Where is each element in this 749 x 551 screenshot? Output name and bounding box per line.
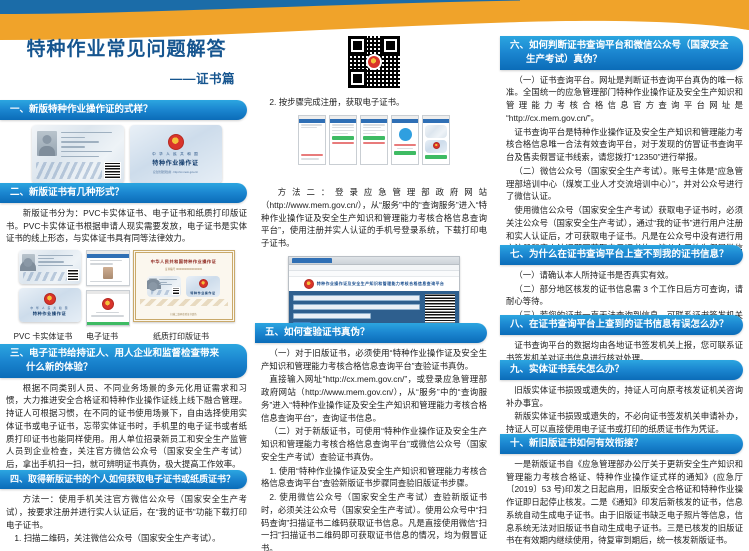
section-2-figures: 中 华 人 民 共 和 国 特种作业操作证 — [6, 250, 247, 326]
section-2-heading: 二、新版证书有几种形式？ — [0, 183, 247, 203]
title-block: 特种作业常见问题解答 ——证书篇 — [0, 40, 253, 87]
paper-cert-back-thumb: 特种作业操作证 — [186, 276, 220, 297]
page-subtitle: ——证书篇 — [0, 68, 235, 87]
poster-page: 特种作业常见问题解答 ——证书篇 一、新版特种作业操作证的式样？ — [0, 0, 749, 551]
section-3-heading-line2: 什么新的体验？ — [10, 361, 239, 375]
login-qr-code[interactable] — [425, 294, 455, 324]
card-field-lines — [61, 132, 120, 161]
card-qr-icon — [67, 269, 79, 281]
password-input[interactable] — [293, 304, 420, 310]
section-9-heading: 九、实体证书丢失怎么办？ — [500, 360, 743, 380]
section-3-heading-line1: 三、电子证书给持证人、用人企业和监督检查带来 — [10, 348, 219, 359]
section-4: 四、取得新版证书的个人如何获取电子证书或纸质证书？ 方法一：使用手机关注官方微信… — [0, 470, 253, 546]
caption-paper: 纸质打印版证书 — [126, 331, 236, 342]
section-5: 五、如何查验证书真伪？ （一）对于旧版证书，必须使用“特种作业操作证及安全生产知… — [255, 323, 493, 551]
query-platform-browser-screenshot: 特种作业操作证及安全生产知识和管理能力考核合格信息查询平台 — [288, 256, 460, 330]
section-10-heading: 十、新旧版证书如何有效衔接？ — [500, 434, 743, 454]
figure-electronic-cert — [86, 250, 128, 326]
section-6-paragraph-1: （一）证书查询平台。网址是判断证书查询平台真伪的唯一标准。全国统一的应急管理部门… — [506, 74, 743, 125]
phone-screenshot-4 — [391, 115, 419, 165]
figure-paper-cert: 中华人民共和国特种作业操作证 证书编号 000000000000000000 — [133, 250, 235, 322]
section-6-heading: 六、如何判断证书查询平台和微信公众号（国家安全 生产考试）真伪？ — [500, 36, 743, 70]
id-photo — [37, 131, 57, 156]
e-cert-screen-bottom — [86, 290, 130, 326]
site-header: 特种作业操作证及安全生产知识和管理能力考核合格信息查询平台 — [289, 277, 459, 291]
middle-step-2: 2. 按步骤完成注册，获取电子证书。 — [255, 96, 493, 170]
captcha-input[interactable] — [293, 313, 371, 319]
section-5-paragraph-1: （一）对于旧版证书，必须使用“特种作业操作证及安全生产知识和管理能力考核合格信息… — [261, 347, 487, 373]
card-back-title: 特种作业操作证 — [33, 311, 67, 317]
middle-paragraph-step2: 2. 按步骤完成注册，获取电子证书。 — [261, 96, 487, 109]
id-photo — [22, 254, 35, 271]
national-emblem-icon — [168, 134, 184, 150]
section-6-paragraph-3: （二）微信公众号（国家安全生产考试）。账号主体是“应急管理部培训中心（煤炭工业人… — [506, 165, 743, 203]
section-5-paragraph-3: （二）对于新版证书，可使用“特种作业操作证及安全生产知识和管理能力考核合格信息查… — [261, 425, 487, 463]
section-7-paragraph-2: （二）部分地区核发的证书信息需 3 个工作日后方可查询，请耐心等待。 — [506, 283, 743, 309]
browser-tab — [292, 258, 332, 263]
section-2: 二、新版证书有几种形式？ 新版证书分为：PVC卡实体证书、电子证书和纸质打印版证… — [0, 183, 253, 348]
section-8-heading: 八、在证书查询平台上查到的证书信息有误怎么办？ — [500, 315, 743, 335]
login-panel — [289, 291, 459, 327]
phone-screenshot-1 — [298, 115, 326, 165]
phone-screenshot-3 — [360, 115, 388, 165]
paper-cert-body: 特种作业操作证 — [147, 276, 220, 297]
pvc-card-back-small: 中 华 人 民 共 和 国 特种作业操作证 — [19, 288, 81, 322]
figure-pvc-card: 中 华 人 民 共 和 国 特种作业操作证 — [19, 250, 81, 322]
national-emblem-icon — [44, 293, 56, 305]
login-form — [293, 295, 420, 323]
card-back-country: 中 华 人 民 共 和 国 — [152, 152, 199, 157]
card-back-title: 特种作业操作证 — [152, 158, 198, 167]
section-2-paragraph-1: 新版证书分为：PVC卡实体证书、电子证书和纸质打印版证书。PVC卡实体证书根据申… — [6, 207, 247, 245]
site-header-title: 特种作业操作证及安全生产知识和管理能力考核合格信息查询平台 — [317, 281, 445, 287]
qr-center-emblem-icon — [366, 54, 382, 70]
pvc-card-front-image — [32, 125, 124, 183]
phone-screenshot-2 — [329, 115, 357, 165]
column-left: 特种作业常见问题解答 ——证书篇 一、新版特种作业操作证的式样？ — [0, 0, 253, 551]
page-title: 特种作业常见问题解答 — [0, 40, 253, 61]
section-1-heading: 一、新版特种作业操作证的式样？ — [0, 100, 247, 120]
wechat-official-account-qr-code[interactable] — [348, 36, 400, 88]
national-emblem-icon — [304, 279, 314, 289]
section-5-paragraph-2: 直接输入网址“http://cx.mem.gov.cn/”，或登录应急管理部政府… — [261, 373, 487, 424]
card-back-footer: 应急管理部监制 · http://cx.mem.gov.cn/ — [153, 170, 198, 174]
paper-cert-title: 中华人民共和国特种作业操作证 — [151, 259, 217, 265]
section-5-paragraph-4: 1. 使用“特种作业操作证及安全生产知识和管理能力考核合格信息查询平台”查验新版… — [261, 465, 487, 491]
section-1-figures: 中 华 人 民 共 和 国 特种作业操作证 应急管理部监制 · http://c… — [6, 125, 247, 183]
middle-paragraph-method2: 方法二：登录应急管理部政府网站（http://www.mem.gov.cn/），… — [261, 186, 487, 250]
phone-screenshot-5 — [422, 115, 450, 165]
section-10-paragraph-1: 一是新版证书自《应急管理部办公厅关于更新安全生产知识和管理能力考核合格证、特种作… — [506, 458, 743, 547]
section-1: 一、新版特种作业操作证的式样？ 中 华 人 民 共 和 国 特种作业操作证 — [0, 100, 253, 188]
section-3: 三、电子证书给持证人、用人企业和监督检查带来 什么新的体验？ 根据不同类别人员、… — [0, 344, 253, 476]
section-4-heading: 四、取得新版证书的个人如何获取电子证书或纸质证书？ — [0, 470, 247, 489]
section-4-paragraph-2: 1. 扫描二维码，关注微信公众号（国家安全生产考试）。 — [6, 532, 247, 545]
section-6: 六、如何判断证书查询平台和微信公众号（国家安全 生产考试）真伪？ （一）证书查询… — [500, 36, 749, 269]
pvc-card-back-image: 中 华 人 民 共 和 国 特种作业操作证 应急管理部监制 · http://c… — [130, 125, 222, 183]
wechat-qr-block — [255, 36, 493, 88]
column-middle: 2. 按步骤完成注册，获取电子证书。 — [255, 0, 493, 551]
section-8: 八、在证书查询平台上查到的证书信息有误怎么办？ 证书查询平台的数据均由各地证书签… — [500, 315, 749, 365]
paper-cert-border-pattern — [140, 299, 228, 306]
card-back-country: 中 华 人 民 共 和 国 — [30, 306, 68, 310]
middle-method-2: 方法二：登录应急管理部政府网站（http://www.mem.gov.cn/），… — [255, 186, 493, 335]
phone-input[interactable] — [293, 295, 420, 301]
caption-pvc: PVC 卡实体证书 — [8, 331, 78, 342]
paper-cert-footer: 扫描二维码查验证书真伪 — [136, 312, 232, 316]
card-watermark — [23, 272, 67, 281]
section-10: 十、新旧版证书如何有效衔接？ 一是新版证书自《应急管理部办公厅关于更新安全生产知… — [500, 434, 749, 548]
section-6-heading-line1: 六、如何判断证书查询平台和微信公众号（国家安全 — [510, 40, 729, 51]
phone-screenshot-strip — [261, 115, 487, 165]
e-cert-back-thumb — [425, 140, 447, 153]
section-2-figure-captions: PVC 卡实体证书 电子证书 纸质打印版证书 — [8, 331, 245, 342]
paper-certificate-image: 中华人民共和国特种作业操作证 证书编号 000000000000000000 — [133, 250, 235, 322]
e-cert-front-thumb — [425, 125, 447, 138]
paper-cert-subtitle: 证书编号 000000000000000000 — [165, 267, 202, 271]
section-6-paragraph-2: 证书查询平台是特种作业操作证及安全生产知识和管理能力考核合格信息唯一合法有效查询… — [506, 126, 743, 164]
e-cert-screen-top — [86, 250, 130, 286]
section-7-heading: 七、为什么在证书查询平台上查不到我的证书信息？ — [500, 245, 743, 265]
section-9-paragraph-2: 新版实体证书损毁或遗失的，不必向证书签发机关申请补办，持证人可以直接使用电子证书… — [506, 410, 743, 436]
pvc-card-front-small — [19, 250, 81, 284]
section-5-heading: 五、如何查验证书真伪？ — [255, 323, 487, 343]
section-3-paragraph-1: 根据不同类别人员、不同业务场景的多元化用证需求和习惯，大力推进安全合格证和特种作… — [6, 382, 247, 471]
wechat-avatar-icon — [399, 128, 412, 141]
card-watermark — [36, 162, 102, 179]
section-9-paragraph-1: 旧版实体证书损毁或遗失的，持证人可向原考核发证机关咨询补办事宜。 — [506, 384, 743, 410]
column-right: 六、如何判断证书查询平台和微信公众号（国家安全 生产考试）真伪？ （一）证书查询… — [500, 0, 749, 551]
caption-electronic: 电子证书 — [78, 331, 126, 342]
national-emblem-icon — [102, 298, 114, 310]
section-9: 九、实体证书丢失怎么办？ 旧版实体证书损毁或遗失的，持证人可向原考核发证机关咨询… — [500, 360, 749, 437]
section-6-heading-line2: 生产考试）真伪？ — [510, 53, 735, 67]
card-qr-icon — [104, 162, 121, 179]
section-3-heading: 三、电子证书给持证人、用人企业和监督检查带来 什么新的体验？ — [0, 344, 247, 378]
section-5-paragraph-5: 2. 使用微信公众号（国家安全生产考试）查验新版证书时，必须关注公众号（国家安全… — [261, 491, 487, 551]
website-screenshot-figure: 特种作业操作证及安全生产知识和管理能力考核合格信息查询平台 — [261, 256, 487, 330]
section-7-paragraph-1: （一）请确认本人所持证书是否真实有效。 — [506, 269, 743, 282]
section-4-paragraph-1: 方法一：使用手机关注官方微信公众号（国家安全生产考试），按要求注册并进行实人认证… — [6, 493, 247, 531]
paper-cert-front-thumb — [147, 276, 181, 297]
card-field-lines — [38, 255, 78, 268]
